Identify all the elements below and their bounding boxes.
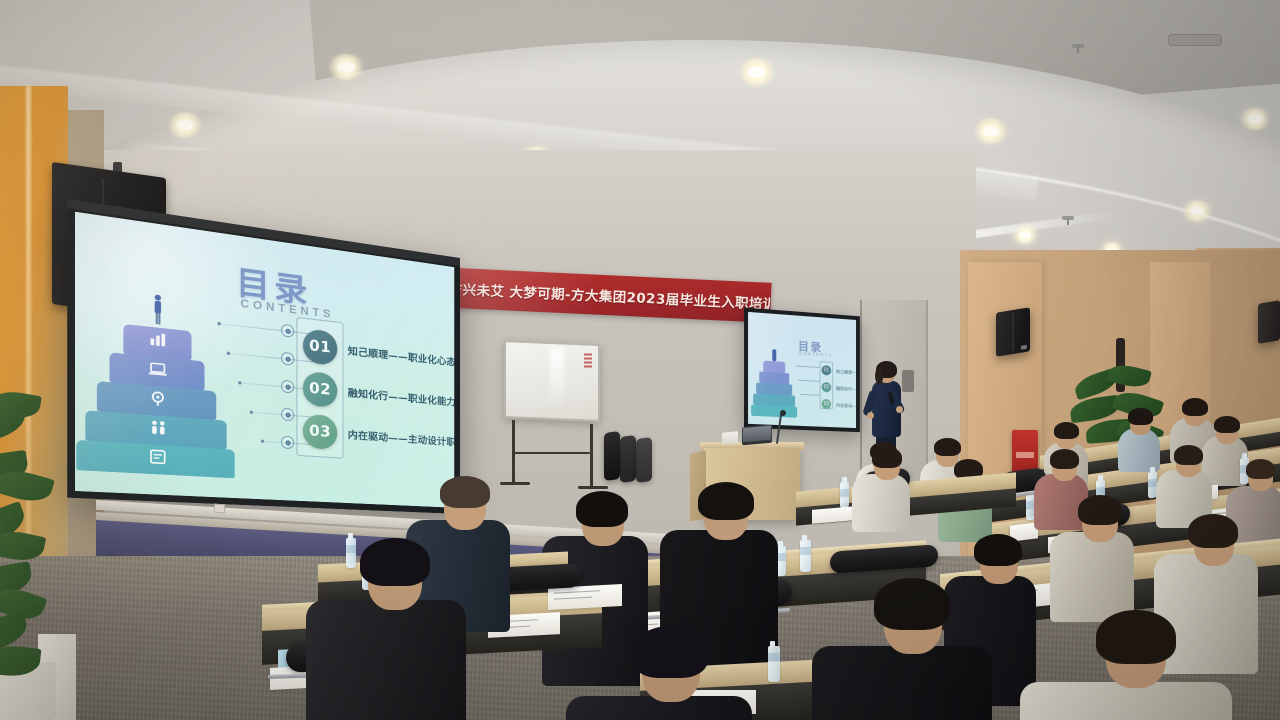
connector-dot bbox=[250, 410, 253, 414]
conference-room-scene: EXIT 方兴未艾 大梦可期-方大集团2023届毕业生入职培训 bbox=[0, 0, 1280, 720]
water-bottle[interactable] bbox=[346, 538, 356, 568]
main-projection-screen: 目录 CONTENTS bbox=[67, 204, 460, 514]
attendee-hair bbox=[1054, 422, 1079, 439]
bullet-ring-icon bbox=[281, 380, 294, 394]
potted-plant-left bbox=[0, 400, 102, 720]
downlight-icon bbox=[974, 118, 1008, 144]
attendee-hair bbox=[934, 438, 961, 456]
bullet-ring-icon bbox=[281, 436, 294, 450]
attendee-hair bbox=[1174, 445, 1203, 465]
downlight-icon bbox=[328, 54, 364, 80]
attendee-hair bbox=[1050, 449, 1079, 469]
secondary-item-text: 融知化行——职业化能力养成 bbox=[836, 386, 860, 395]
stacked-chair bbox=[636, 437, 652, 483]
attendee-hair bbox=[360, 538, 430, 586]
whiteboard-sheen bbox=[550, 348, 564, 406]
secondary-item-number: 01 bbox=[822, 365, 832, 375]
presenter-hand-right bbox=[896, 406, 903, 413]
attendee-hair bbox=[974, 534, 1022, 566]
connector-dot bbox=[227, 352, 230, 356]
attendee-hair bbox=[440, 476, 490, 508]
attendee-hair bbox=[632, 626, 708, 678]
secondary-projection-screen: 目录 CONTENTS 01 02 03 知己顺理——职业化心态塑造 融知化行—… bbox=[744, 308, 860, 433]
downlight-icon bbox=[168, 112, 202, 138]
attendee-hair bbox=[1246, 459, 1275, 479]
wall-speaker-far-right bbox=[1258, 300, 1280, 344]
attendee-hair bbox=[1096, 610, 1176, 664]
wall-speaker-right bbox=[996, 307, 1030, 356]
attendee-hair bbox=[1188, 514, 1238, 548]
lectern-papers bbox=[722, 431, 738, 445]
attendee-torso bbox=[812, 646, 992, 720]
secondary-item-number: 02 bbox=[822, 382, 832, 392]
secondary-slide-subtitle: CONTENTS bbox=[799, 351, 832, 358]
secondary-item-text: 内在驱动——主动设计职业人生 bbox=[836, 403, 860, 411]
sprinkler-icon bbox=[1062, 216, 1074, 220]
whiteboard-marking bbox=[584, 353, 592, 369]
water-bottle[interactable] bbox=[800, 540, 811, 572]
attendee-hair bbox=[1128, 408, 1153, 425]
whiteboard-foot bbox=[500, 482, 530, 485]
secondary-item-number: 03 bbox=[822, 399, 832, 409]
attendee-hair bbox=[874, 578, 950, 630]
stacked-chair bbox=[604, 431, 620, 481]
water-bottle[interactable] bbox=[840, 482, 849, 509]
attendee-hair bbox=[576, 491, 628, 527]
secondary-pyramid-graphic bbox=[752, 345, 796, 418]
presenter-hand-left bbox=[867, 412, 874, 419]
whiteboard-crossbar bbox=[512, 452, 590, 454]
downlight-icon bbox=[1240, 108, 1270, 130]
connector-dot bbox=[217, 322, 220, 326]
wall-outlet-icon bbox=[214, 504, 225, 514]
downlight-icon bbox=[1012, 226, 1038, 244]
microphone-head-icon bbox=[780, 410, 786, 416]
bullet-ring-icon bbox=[281, 408, 294, 422]
presenter-hair-side bbox=[875, 368, 883, 384]
secondary-item-text: 知己顺理——职业化心态塑造 bbox=[836, 369, 860, 378]
connector-dot bbox=[238, 381, 241, 385]
attendee-torso bbox=[1050, 532, 1134, 622]
air-vent-icon bbox=[1168, 34, 1222, 46]
secondary-slide: 目录 CONTENTS 01 02 03 知己顺理——职业化心态塑造 融知化行—… bbox=[748, 312, 856, 428]
attendee-hair bbox=[1182, 398, 1208, 416]
whiteboard-leg bbox=[590, 424, 593, 486]
stacked-chair bbox=[620, 435, 636, 483]
attendee-hair bbox=[1078, 495, 1122, 525]
downlight-icon bbox=[1182, 200, 1212, 222]
whiteboard[interactable] bbox=[504, 340, 600, 422]
laptop[interactable] bbox=[742, 425, 772, 446]
attendee-hair bbox=[872, 447, 902, 468]
attendee-hair bbox=[1214, 416, 1240, 433]
attendee-torso bbox=[852, 474, 910, 532]
attendee-hair bbox=[698, 482, 754, 520]
bullet-ring-icon bbox=[281, 352, 294, 366]
water-bottle[interactable] bbox=[768, 646, 780, 682]
sprinkler-icon bbox=[1072, 44, 1084, 48]
attendee-torso bbox=[1020, 682, 1232, 720]
connector-dot bbox=[261, 440, 264, 443]
attendee-torso bbox=[306, 600, 466, 720]
whiteboard-foot bbox=[578, 486, 608, 489]
downlight-icon bbox=[738, 58, 776, 86]
